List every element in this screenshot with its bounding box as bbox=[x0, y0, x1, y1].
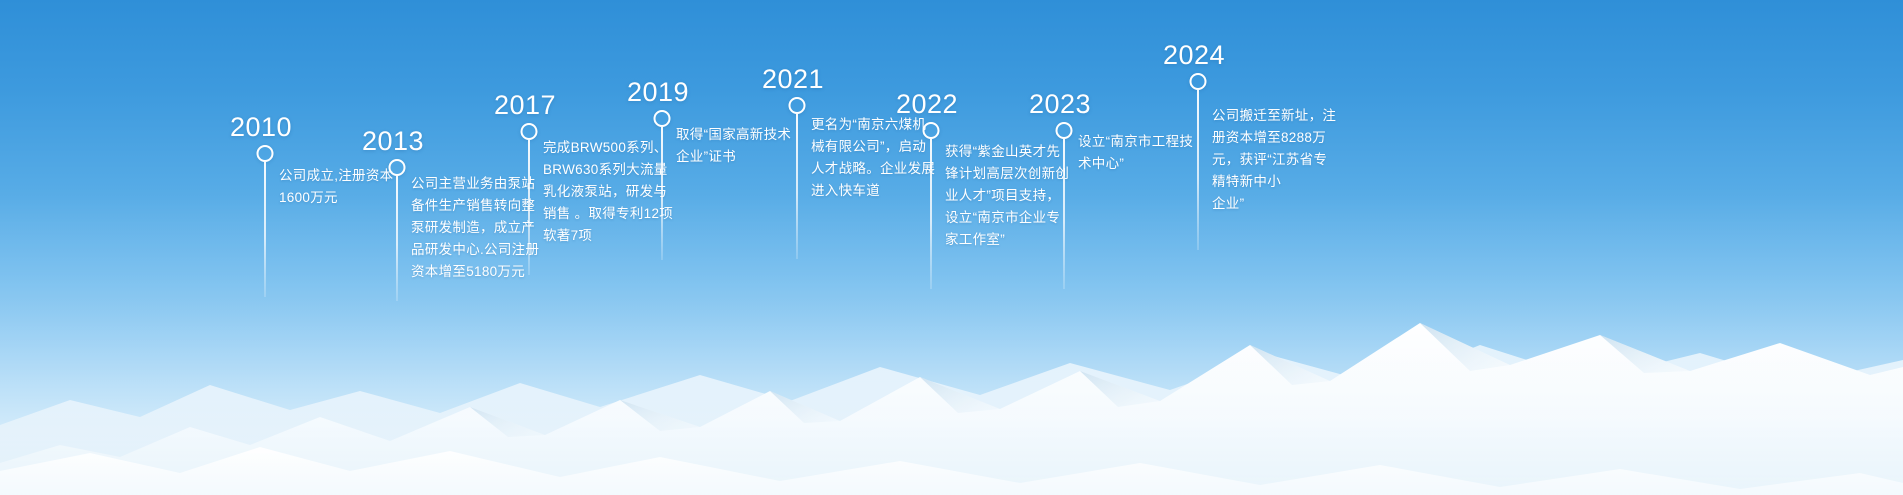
timeline-year-label: 2013 bbox=[362, 126, 424, 157]
timeline-description: 公司主营业务由泵站 备件生产销售转向整 泵研发制造，成立产 品研发中心.公司注册… bbox=[411, 173, 561, 283]
timeline-year-label: 2019 bbox=[627, 77, 689, 108]
timeline-description: 公司成立,注册资本 1600万元 bbox=[279, 165, 429, 209]
timeline-dot-icon[interactable] bbox=[389, 159, 406, 176]
timeline-year-label: 2010 bbox=[230, 112, 292, 143]
timeline-dot-icon[interactable] bbox=[923, 122, 940, 139]
timeline-connector-line bbox=[661, 127, 663, 260]
timeline-year-label: 2017 bbox=[494, 90, 556, 121]
timeline-description: 取得“国家高新技术 企业”证书 bbox=[676, 124, 828, 168]
timeline-infographic: 2010公司成立,注册资本 1600万元2013公司主营业务由泵站 备件生产销售… bbox=[0, 0, 1903, 495]
timeline-dot-icon[interactable] bbox=[1190, 73, 1207, 90]
timeline-description: 公司搬迁至新址，注 册资本增至8288万 元，获评“江苏省专 精特新中小 企业” bbox=[1212, 105, 1367, 215]
timeline-connector-line bbox=[930, 139, 932, 289]
timeline-connector-line bbox=[264, 162, 266, 297]
timeline-connector-line bbox=[796, 114, 798, 259]
timeline-dot-icon[interactable] bbox=[521, 123, 538, 140]
timeline-dot-icon[interactable] bbox=[789, 97, 806, 114]
timeline-description: 更名为“南京六煤机 械有限公司”，启动 人才战略。企业发展 进入快车道 bbox=[811, 114, 963, 202]
timeline-description: 设立“南京市工程技 术中心” bbox=[1078, 131, 1230, 175]
timeline-connector-line bbox=[396, 176, 398, 301]
timeline-year-label: 2024 bbox=[1163, 40, 1225, 71]
timeline-track: 2010公司成立,注册资本 1600万元2013公司主营业务由泵站 备件生产销售… bbox=[0, 0, 1903, 495]
timeline-dot-icon[interactable] bbox=[654, 110, 671, 127]
timeline-connector-line bbox=[1197, 90, 1199, 250]
timeline-dot-icon[interactable] bbox=[1056, 122, 1073, 139]
timeline-year-label: 2023 bbox=[1029, 89, 1091, 120]
timeline-year-label: 2022 bbox=[896, 89, 958, 120]
timeline-connector-line bbox=[528, 140, 530, 275]
timeline-year-label: 2021 bbox=[762, 64, 824, 95]
timeline-connector-line bbox=[1063, 139, 1065, 289]
timeline-description: 获得“紫金山英才先 锋计划高层次创新创 业人才”项目支持， 设立“南京市企业专 … bbox=[945, 141, 1097, 251]
timeline-dot-icon[interactable] bbox=[257, 145, 274, 162]
